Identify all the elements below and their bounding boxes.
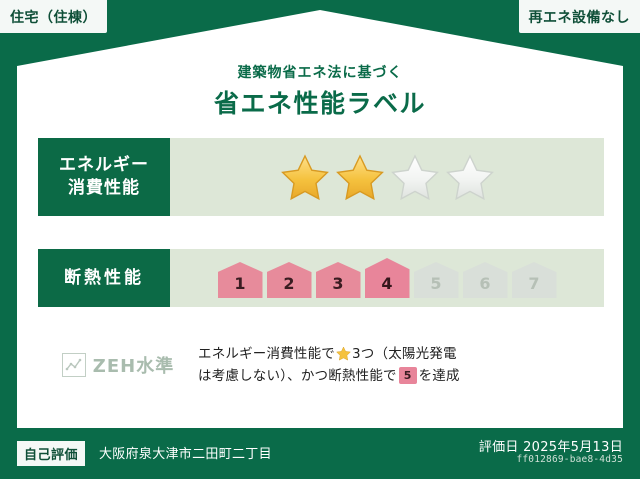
energy-performance-caption: エネルギー 消費性能	[38, 138, 170, 216]
insulation-level-7: 7	[512, 262, 557, 298]
note-part2: 3つ（太陽光発電	[352, 346, 457, 362]
star-filled-icon	[280, 153, 330, 201]
insulation-performance-row: 断熱性能 1234567	[38, 249, 604, 307]
zeh-standard-label: ZEH水準	[93, 352, 174, 378]
energy-stars-area	[170, 138, 604, 216]
insulation-caption-label: 断熱性能	[64, 267, 144, 290]
insulation-target-chip: 5	[399, 367, 417, 384]
property-address: 大阪府泉大津市二田町二丁目	[99, 443, 272, 462]
zeh-chart-icon	[62, 353, 86, 377]
panel-content: 建築物省エネ法に基づく 省エネ性能ラベル エネルギー 消費性能 断熱性能 123…	[17, 10, 623, 428]
insulation-level-4: 4	[365, 258, 410, 298]
energy-performance-label: 住宅（住棟） 再エネ設備なし 建築物省エネ法に基づく 省エネ性能ラベル エネルギ…	[0, 0, 640, 479]
achievement-note: エネルギー消費性能で3つ（太陽光発電は考慮しない）、かつ断熱性能で5を達成	[198, 343, 604, 388]
star-rating	[280, 153, 495, 201]
self-evaluation-badge: 自己評価	[17, 441, 85, 466]
zeh-standard-indicator: ZEH水準	[38, 352, 198, 378]
insulation-level-5: 5	[414, 262, 459, 298]
insulation-level-6: 6	[463, 262, 508, 298]
zeh-note-row: ZEH水準 エネルギー消費性能で3つ（太陽光発電は考慮しない）、かつ断熱性能で5…	[38, 330, 604, 400]
note-part3: は考慮しない）、かつ断熱性能で	[198, 368, 397, 384]
star-empty-icon	[390, 153, 440, 201]
note-part1: エネルギー消費性能で	[198, 346, 335, 362]
label-footer: 自己評価 大阪府泉大津市二田町二丁目 評価日 2025年5月13日 ff0128…	[0, 430, 640, 479]
note-part4: を達成	[419, 368, 460, 384]
star-icon	[336, 346, 351, 361]
energy-performance-row: エネルギー 消費性能	[38, 138, 604, 216]
label-subtitle: 建築物省エネ法に基づく	[17, 62, 623, 82]
star-empty-icon	[445, 153, 495, 201]
page-title: 省エネ性能ラベル	[17, 84, 623, 120]
evaluation-id: ff012869-bae8-4d35	[516, 454, 623, 465]
insulation-level-1: 1	[218, 262, 263, 298]
insulation-performance-caption: 断熱性能	[38, 249, 170, 307]
insulation-level-scale: 1234567	[218, 258, 557, 298]
star-filled-icon	[335, 153, 385, 201]
insulation-level-2: 2	[267, 262, 312, 298]
insulation-levels-area: 1234567	[170, 249, 604, 307]
evaluation-date: 評価日 2025年5月13日	[479, 436, 623, 455]
energy-caption-line1: エネルギー	[59, 154, 149, 177]
energy-caption-line2: 消費性能	[68, 177, 140, 200]
insulation-level-3: 3	[316, 262, 361, 298]
